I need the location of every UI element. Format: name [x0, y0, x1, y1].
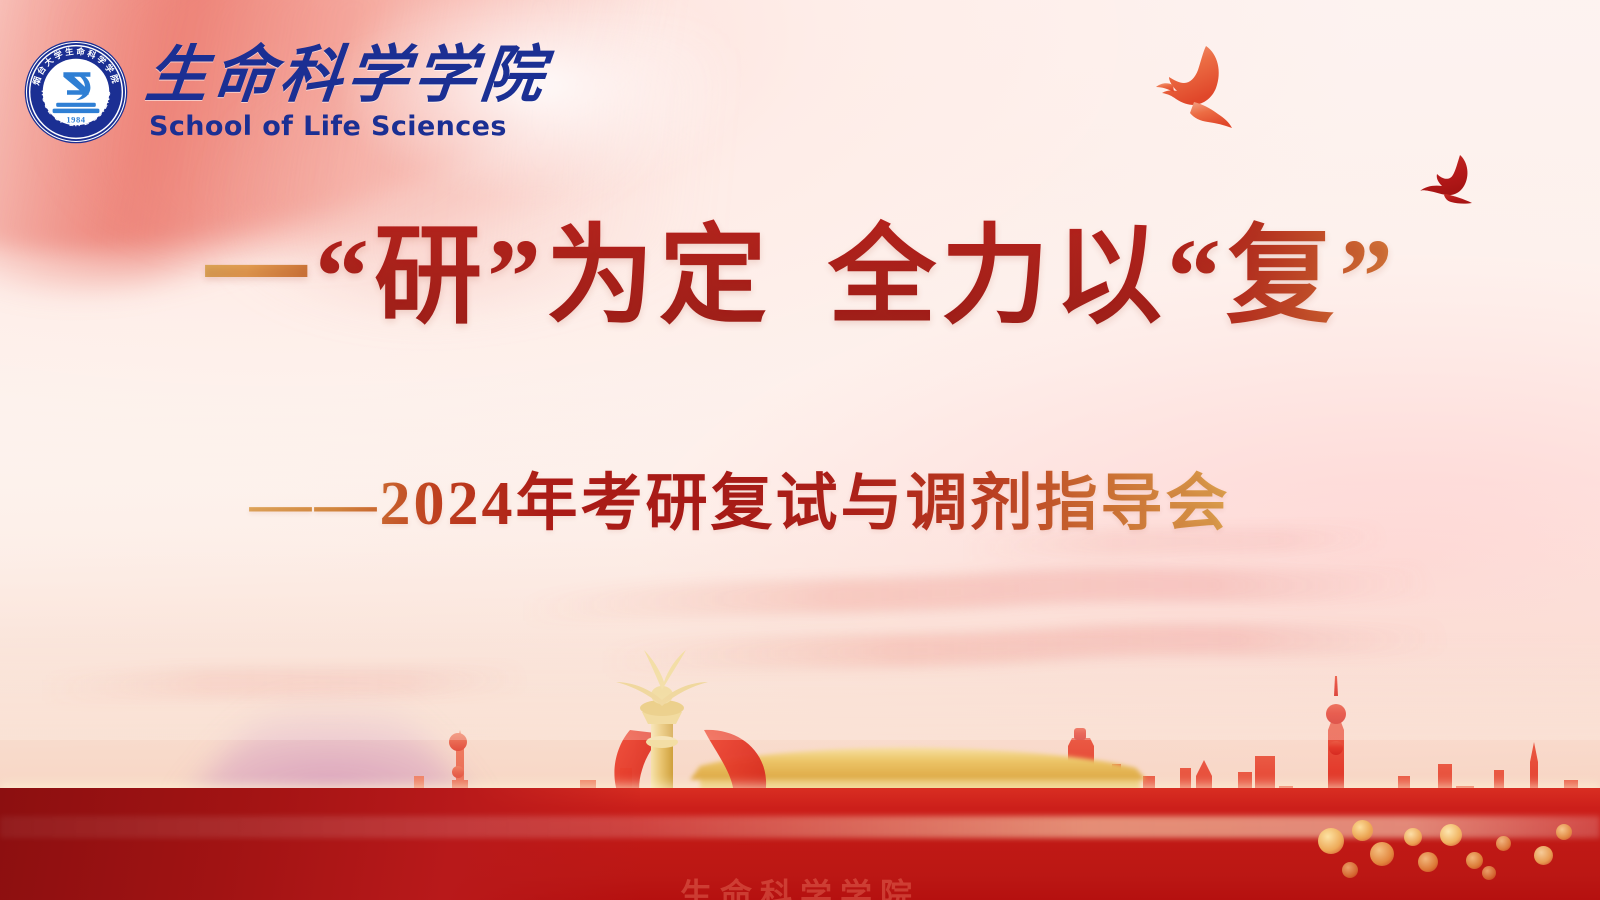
title-line: 一“研”为定全力以“复”: [202, 212, 1398, 344]
poster-subtitle: ——2024年考研复试与调剂指导会: [249, 452, 1230, 542]
flying-bird-large: [1150, 42, 1260, 137]
university-seal-icon: 烟台大学生命科学学院 SCHOOL OF LIFE SCIENCES 1984: [22, 38, 130, 146]
title-segment-one: “研”为定: [315, 218, 772, 337]
poster-subtitle-wrap: ——2024年考研复试与调剂指导会: [0, 452, 1600, 542]
wordmark-chinese: 生命科学学院: [143, 45, 552, 107]
title-segment-three: “复”: [1167, 218, 1398, 337]
bottom-red-band-shadow: [0, 788, 640, 900]
school-logo-lockup: 烟台大学生命科学学院 SCHOOL OF LIFE SCIENCES 1984 …: [22, 38, 548, 146]
title-char-gold: 一: [202, 218, 315, 337]
poster-canvas: 烟台大学生命科学学院 SCHOOL OF LIFE SCIENCES 1984 …: [0, 0, 1600, 900]
school-wordmark: 生命科学学院 School of Life Sciences: [146, 45, 548, 140]
svg-text:1984: 1984: [66, 115, 85, 125]
flying-bird-small: [1420, 152, 1500, 214]
poster-title: 一“研”为定全力以“复”: [0, 212, 1600, 344]
wordmark-english: School of Life Sciences: [149, 113, 548, 140]
title-segment-two: 全力以: [828, 218, 1167, 337]
